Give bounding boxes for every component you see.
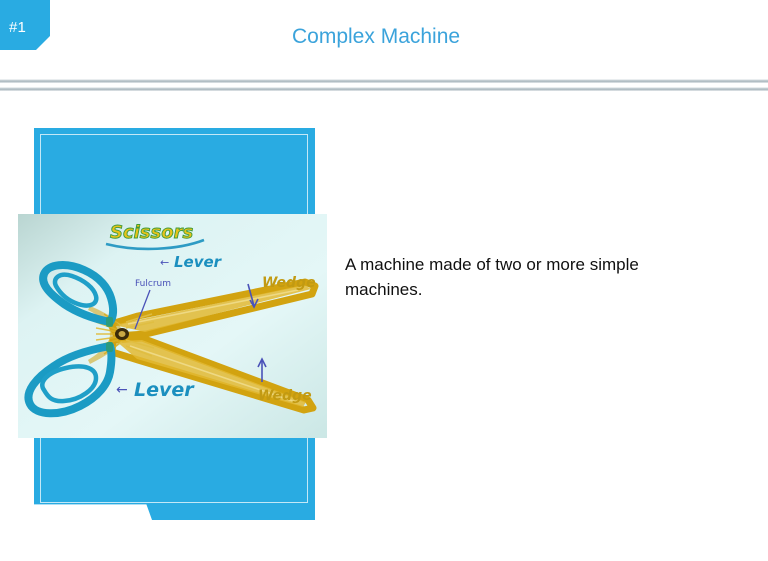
slide-number-tab: #1 <box>0 0 50 50</box>
svg-text:←: ← <box>160 256 169 269</box>
divider-line-top <box>0 79 768 83</box>
svg-text:Scissors: Scissors <box>110 222 193 243</box>
slide-header: #1 Complex Machine <box>0 0 768 80</box>
svg-text:Lever: Lever <box>134 379 195 401</box>
svg-text:Wedge: Wedge <box>258 388 312 404</box>
divider-line-bottom <box>0 87 768 91</box>
scissors-illustration: Scissors ← Lever Fulcrum Wedge Wedge ← <box>18 214 327 438</box>
svg-text:Fulcrum: Fulcrum <box>135 279 171 289</box>
slide-body-text: A machine made of two or more simple mac… <box>345 252 685 302</box>
slide-number-label: #1 <box>9 20 26 35</box>
header-divider-group <box>0 79 768 93</box>
svg-text:Lever: Lever <box>174 253 223 271</box>
svg-text:←: ← <box>116 382 128 398</box>
scissors-diagram-image: Scissors ← Lever Fulcrum Wedge Wedge ← <box>18 214 327 438</box>
page-title: Complex Machine <box>292 23 460 51</box>
svg-text:Wedge: Wedge <box>262 275 316 291</box>
